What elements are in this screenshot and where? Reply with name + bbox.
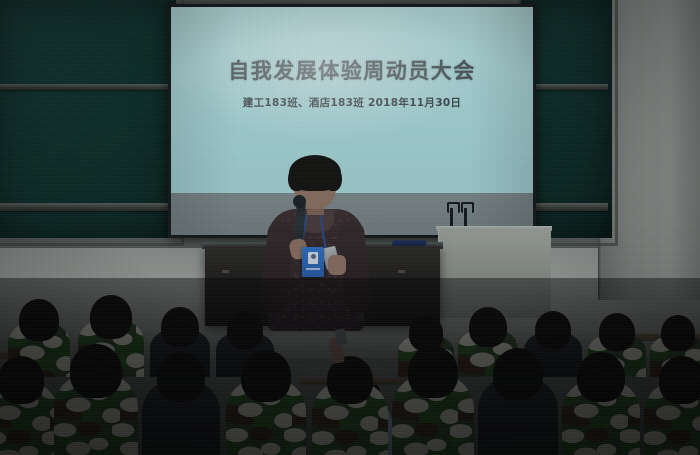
audience-member	[392, 346, 474, 455]
audience-member-head	[70, 344, 122, 398]
presenter-hair-side-right	[326, 165, 342, 191]
audience-member-head	[0, 356, 44, 404]
lecture-hall-photo: 自我发展体验周动员大会 建工183班、酒店183班 2018年11月30日	[0, 0, 700, 455]
audience-member	[644, 356, 700, 455]
audience-member-head	[241, 350, 291, 402]
audience-member	[312, 356, 388, 455]
audience-member-head	[493, 348, 543, 400]
audience-member	[478, 348, 558, 455]
podium-knob-left	[222, 270, 229, 273]
audience-member	[226, 350, 306, 455]
audience-member-head	[408, 346, 458, 398]
slide-subtitle: 建工183班、酒店183班 2018年11月30日	[171, 95, 533, 110]
audience-member	[54, 344, 138, 455]
badge-photo	[308, 252, 318, 264]
chalk-rail-left-upper	[0, 84, 172, 90]
audience-front-row	[0, 330, 700, 455]
audience	[0, 282, 700, 455]
podium-knob-right	[398, 270, 405, 273]
chalk-rail-left-lower	[0, 203, 172, 211]
audience-member	[142, 352, 220, 455]
badge-text-line	[306, 268, 320, 270]
presenter-hair-side-left	[288, 165, 304, 191]
audience-member-head	[577, 352, 625, 402]
audience-member-head	[157, 352, 205, 402]
audience-member	[0, 356, 58, 455]
microphone-head-icon	[293, 195, 306, 208]
slide-title: 自我发展体验周动员大会	[171, 55, 533, 85]
id-badge	[302, 247, 324, 277]
audience-member-head	[659, 356, 700, 404]
audience-member	[562, 352, 640, 455]
presenter-hand-holding-phone	[328, 255, 346, 275]
